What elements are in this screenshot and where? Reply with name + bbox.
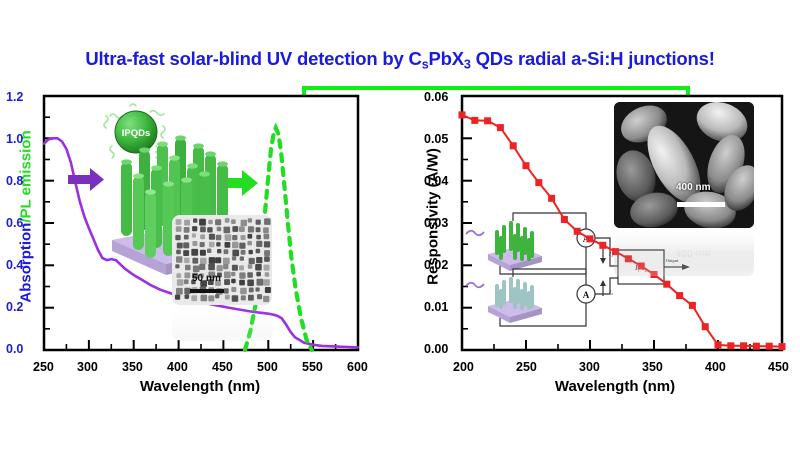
tem-inset-reflection [172, 305, 272, 341]
title-suffix: QDs radial a-Si:H junctions! [471, 48, 715, 69]
tem-scalebar-label: 50 nm [192, 273, 221, 284]
ammeter-bottom-label: A [583, 290, 590, 300]
responsivity-panel: Responsivity (A/W) 0.00 0.01 0.02 0.03 0… [400, 88, 800, 388]
absorption-pl-panel: Absorption/PL emission 0.0 0.2 0.4 0.6 0… [0, 88, 400, 388]
title-sub-3: 3 [464, 58, 471, 72]
sem-inset-reflection: 400 nm [614, 228, 754, 276]
graphical-abstract-figure: Ultra-fast solar-blind UV detection by C… [0, 0, 800, 449]
page-title: Ultra-fast solar-blind UV detection by C… [0, 48, 800, 72]
sem-scalebar-label: 400 nm [676, 182, 710, 193]
title-mid: PbX [428, 48, 463, 69]
sem-inset: 400 nm [614, 102, 754, 228]
sem-reflection-scalebar-label: 400 nm [676, 247, 710, 258]
tem-inset: 50 nm [172, 215, 272, 305]
current-bottom-label: I₂ [608, 290, 613, 296]
ipqd-sphere-label: IPQDs [122, 128, 151, 139]
title-prefix: Ultra-fast solar-blind UV detection by C [85, 48, 421, 69]
